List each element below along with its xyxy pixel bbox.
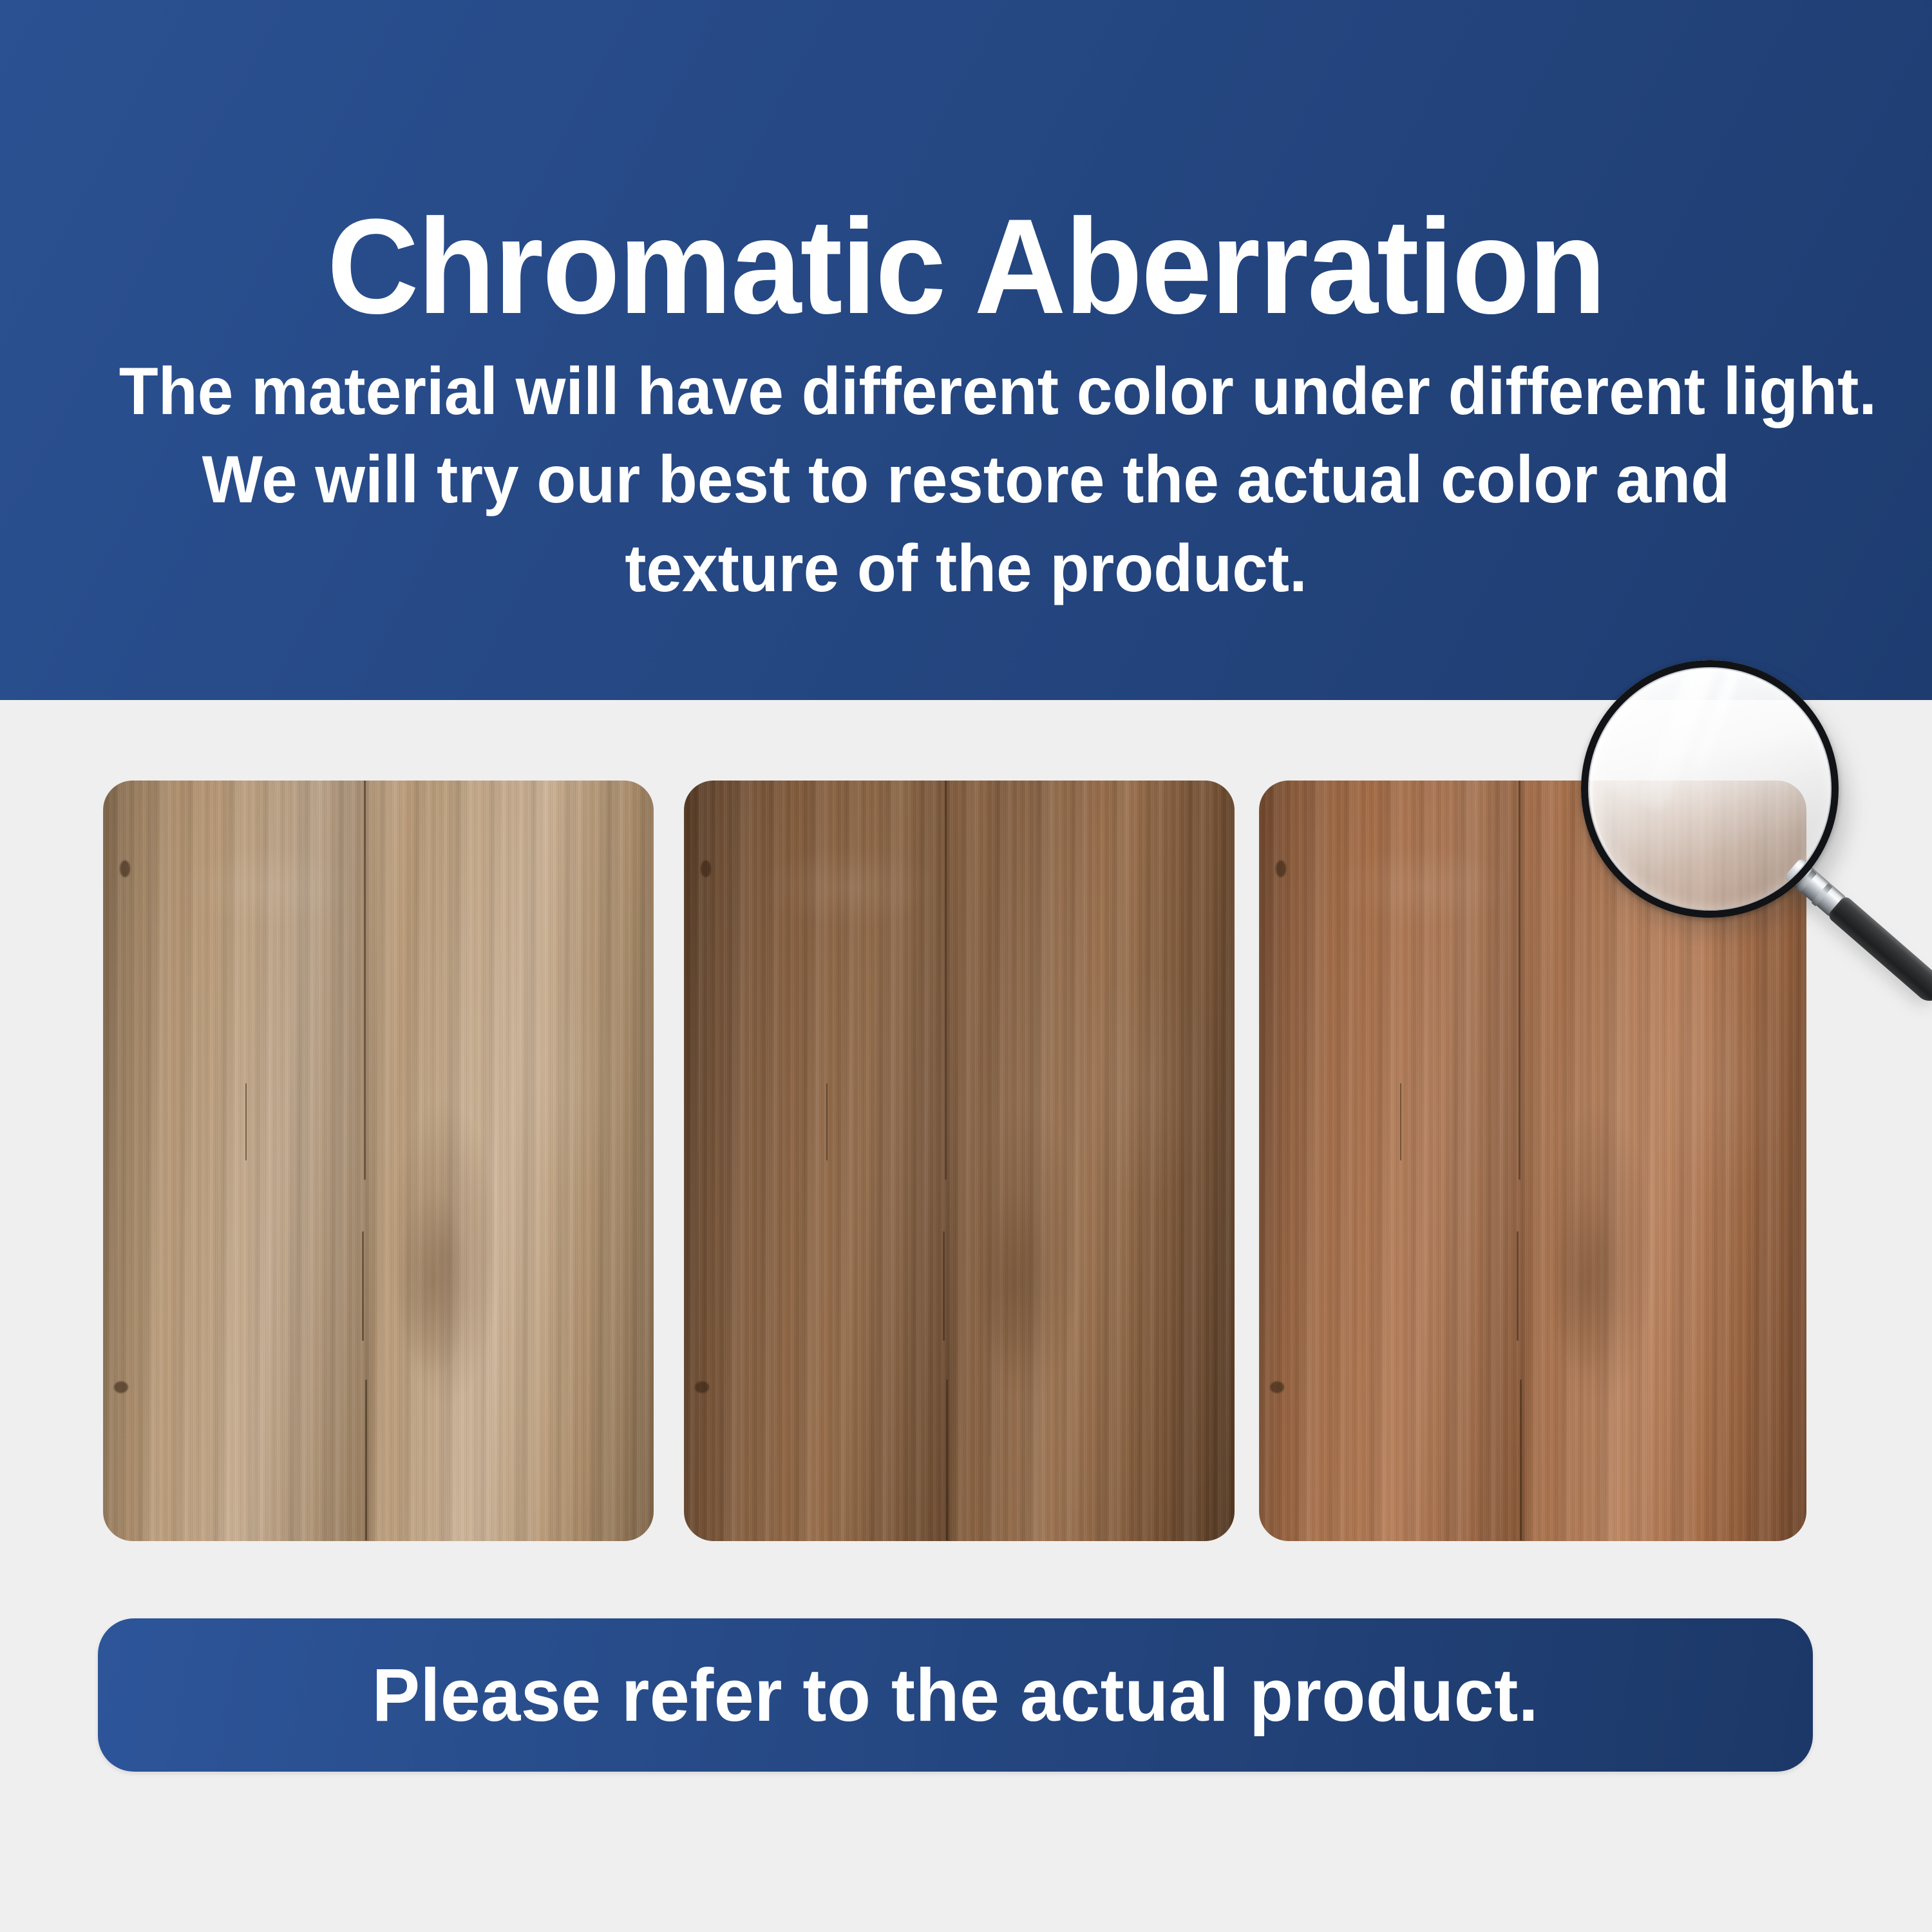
wood-vignette xyxy=(684,781,1235,1541)
wood-swatch-row xyxy=(103,781,1806,1541)
subtitle-line-3: texture of the product. xyxy=(119,525,1813,613)
wood-swatch-red-teak xyxy=(1259,781,1806,1541)
header-subtitle: The material will have different color u… xyxy=(119,348,1813,613)
subtitle-line-1: The material will have different color u… xyxy=(119,348,1813,436)
wood-vignette xyxy=(103,781,654,1541)
footer-message: Please refer to the actual product. xyxy=(372,1658,1539,1732)
header-banner: Chromatic Aberration The material will h… xyxy=(0,0,1932,700)
magnifier-grip xyxy=(1826,895,1932,1007)
footer-notice-banner: Please refer to the actual product. xyxy=(98,1618,1813,1772)
page-title: Chromatic Aberration xyxy=(58,199,1874,334)
wood-vignette xyxy=(1259,781,1806,1541)
magnifier-ferrule-band xyxy=(1811,883,1832,906)
wood-swatch-dark-walnut xyxy=(684,781,1235,1541)
subtitle-line-2: We will try our best to restore the actu… xyxy=(119,436,1813,524)
chromatic-aberration-infographic: Chromatic Aberration The material will h… xyxy=(0,0,1932,1932)
wood-swatch-light-oak xyxy=(103,781,654,1541)
